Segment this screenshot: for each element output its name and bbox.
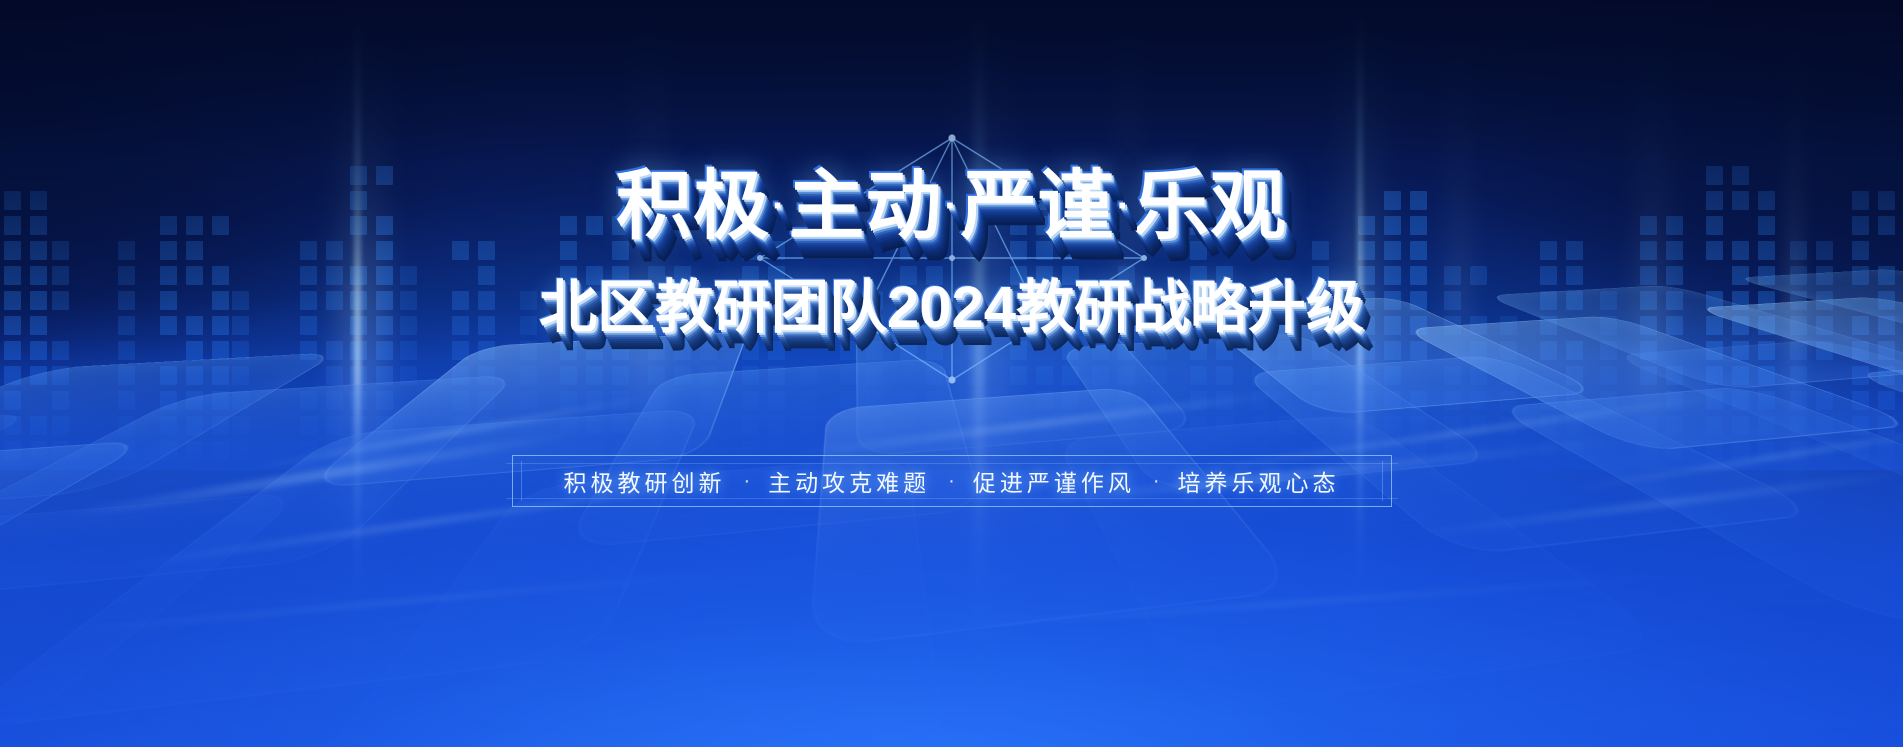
sub-headline: 北区教研团队2024教研战略升级 [539,260,1364,344]
headline-word-3: 严谨 [961,164,1115,249]
slogan-bar: 积极教研创新 · 主动攻克难题 · 促进严谨作风 · 培养乐观心态 [512,455,1392,507]
main-headline: 积极·主动·严谨·乐观 [616,168,1287,246]
slogan-separator-3: · [1145,470,1168,493]
slogan-item-4: 培养乐观心态 [1178,464,1340,498]
headline-word-4: 乐观 [1133,164,1287,249]
banner-content: 积极·主动·严谨·乐观 北区教研团队2024教研战略升级 积极教研创新 · 主动… [0,0,1903,747]
title-block: 积极·主动·严谨·乐观 北区教研团队2024教研战略升级 [0,168,1903,344]
slogan-separator-1: · [735,470,758,493]
slogan-item-3: 促进严谨作风 [973,464,1135,498]
banner-root: 积极·主动·严谨·乐观 北区教研团队2024教研战略升级 积极教研创新 · 主动… [0,0,1903,747]
headline-word-2: 主动 [788,164,942,249]
headline-separator-1: · [770,184,788,228]
headline-separator-2: · [942,184,960,228]
slogan-item-2: 主动攻克难题 [768,464,930,498]
headline-word-1: 积极 [616,164,770,249]
slogan-item-1: 积极教研创新 [563,464,725,498]
slogan-text-group: 积极教研创新 · 主动攻克难题 · 促进严谨作风 · 培养乐观心态 [563,464,1339,498]
slogan-separator-2: · [940,470,963,493]
headline-separator-3: · [1115,184,1133,228]
